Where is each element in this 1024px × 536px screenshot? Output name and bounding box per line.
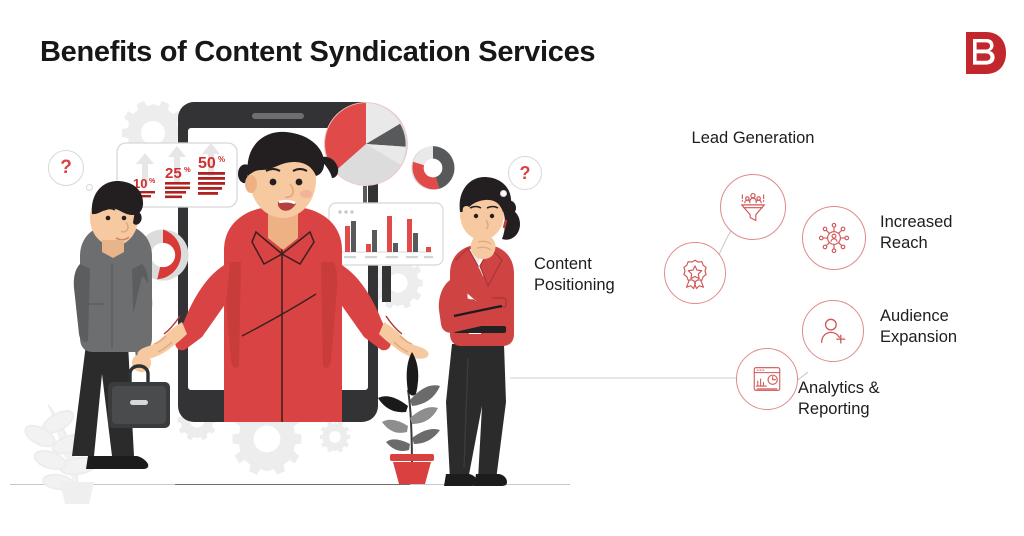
thought-mark: ? (60, 157, 72, 179)
node-label-audience-expansion: Audience Expansion (880, 306, 1024, 348)
node-label-analytics-reporting: Analytics & Reporting (798, 378, 968, 420)
brand-monogram-logo (962, 29, 1008, 77)
analytics-dashboard-icon (750, 362, 784, 396)
page-title: Benefits of Content Syndication Services (40, 36, 595, 69)
label-line-1: Analytics & (798, 378, 968, 399)
label-line-1: Content (534, 254, 658, 275)
node-content-positioning[interactable] (664, 242, 726, 304)
label-line-2: Positioning (534, 275, 658, 296)
gear-decoration-icon (318, 420, 352, 454)
benefits-node-diagram: Content Positioning (520, 110, 1024, 470)
node-label-lead-generation: Lead Generation (638, 128, 868, 149)
node-label-content-positioning: Content Positioning (534, 254, 658, 296)
thought-bubble-dot (500, 190, 507, 197)
label-line-2: Reach (880, 233, 1020, 254)
network-hub-icon (816, 220, 852, 256)
award-badge-icon (678, 256, 712, 290)
node-label-increased-reach: Increased Reach (880, 212, 1020, 254)
label-line-1: Lead Generation (638, 128, 868, 149)
thought-bubble-dot (86, 184, 93, 191)
node-increased-reach[interactable] (802, 206, 866, 270)
label-line-2: Expansion (880, 327, 1024, 348)
node-analytics-reporting[interactable] (736, 348, 798, 410)
label-line-1: Audience (880, 306, 1024, 327)
funnel-icon (736, 190, 770, 224)
node-lead-generation[interactable] (720, 174, 786, 240)
content-syndication-illustration: 10 % 25 % 50 % (0, 80, 600, 500)
thought-bubble-left: ? (48, 150, 84, 186)
node-audience-expansion[interactable] (802, 300, 864, 362)
add-user-icon (816, 314, 850, 348)
infographic-page: Benefits of Content Syndication Services (0, 0, 1024, 536)
label-line-2: Reporting (798, 399, 968, 420)
potted-plant (370, 344, 454, 484)
label-line-1: Increased (880, 212, 1020, 233)
